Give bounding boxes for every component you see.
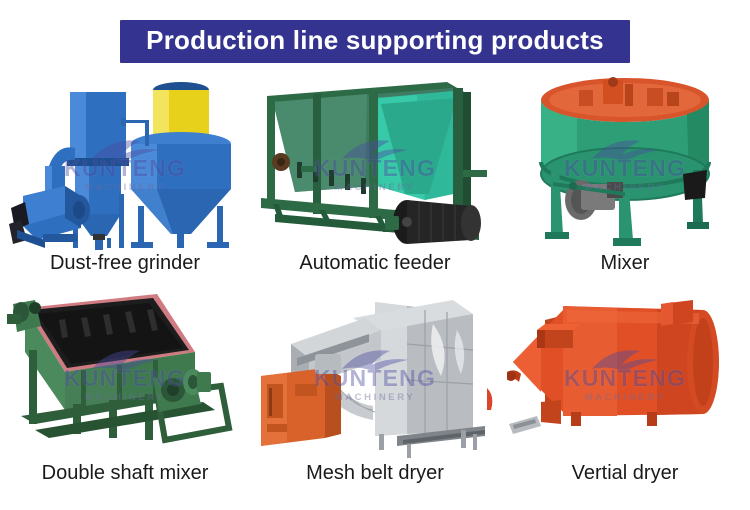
product-label-mixer: Mixer bbox=[601, 252, 650, 274]
product-label-double-shaft-mixer: Double shaft mixer bbox=[42, 462, 209, 484]
page-title-banner: Production line supporting products bbox=[0, 20, 750, 63]
product-row-2: KUNTENG MACHINERY Double shaft mixer bbox=[0, 284, 750, 494]
product-label-mesh-belt-dryer: Mesh belt dryer bbox=[306, 462, 444, 484]
product-card-mixer[interactable]: KUNTENG MACHINERY Mixer bbox=[500, 74, 750, 284]
product-image-mesh-belt-dryer: KUNTENG MACHINERY bbox=[257, 284, 493, 460]
product-card-automatic-feeder[interactable]: KUNTENG MACHINERY Automatic feeder bbox=[250, 74, 500, 284]
product-card-vertial-dryer[interactable]: KUNTENG MACHINERY Vertial dryer bbox=[500, 284, 750, 494]
product-image-automatic-feeder: KUNTENG MACHINERY bbox=[257, 74, 493, 250]
product-image-double-shaft-mixer: KUNTENG MACHINERY bbox=[7, 284, 243, 460]
product-image-mixer: KUNTENG MACHINERY bbox=[507, 74, 743, 250]
product-image-vertial-dryer: KUNTENG MACHINERY bbox=[507, 284, 743, 460]
product-card-double-shaft-mixer[interactable]: KUNTENG MACHINERY Double shaft mixer bbox=[0, 284, 250, 494]
product-card-dust-free-grinder[interactable]: KUNTENG MACHINERY Dust-free grinder bbox=[0, 74, 250, 284]
product-label-automatic-feeder: Automatic feeder bbox=[299, 252, 450, 274]
product-card-mesh-belt-dryer[interactable]: KUNTENG MACHINERY Mesh belt dryer bbox=[250, 284, 500, 494]
product-image-dust-free-grinder: KUNTENG MACHINERY bbox=[7, 74, 243, 250]
product-grid: KUNTENG MACHINERY Dust-free grinder bbox=[0, 74, 750, 494]
product-label-dust-free-grinder: Dust-free grinder bbox=[50, 252, 200, 274]
product-label-vertial-dryer: Vertial dryer bbox=[572, 462, 679, 484]
page-title: Production line supporting products bbox=[120, 20, 630, 63]
product-row-1: KUNTENG MACHINERY Dust-free grinder bbox=[0, 74, 750, 284]
